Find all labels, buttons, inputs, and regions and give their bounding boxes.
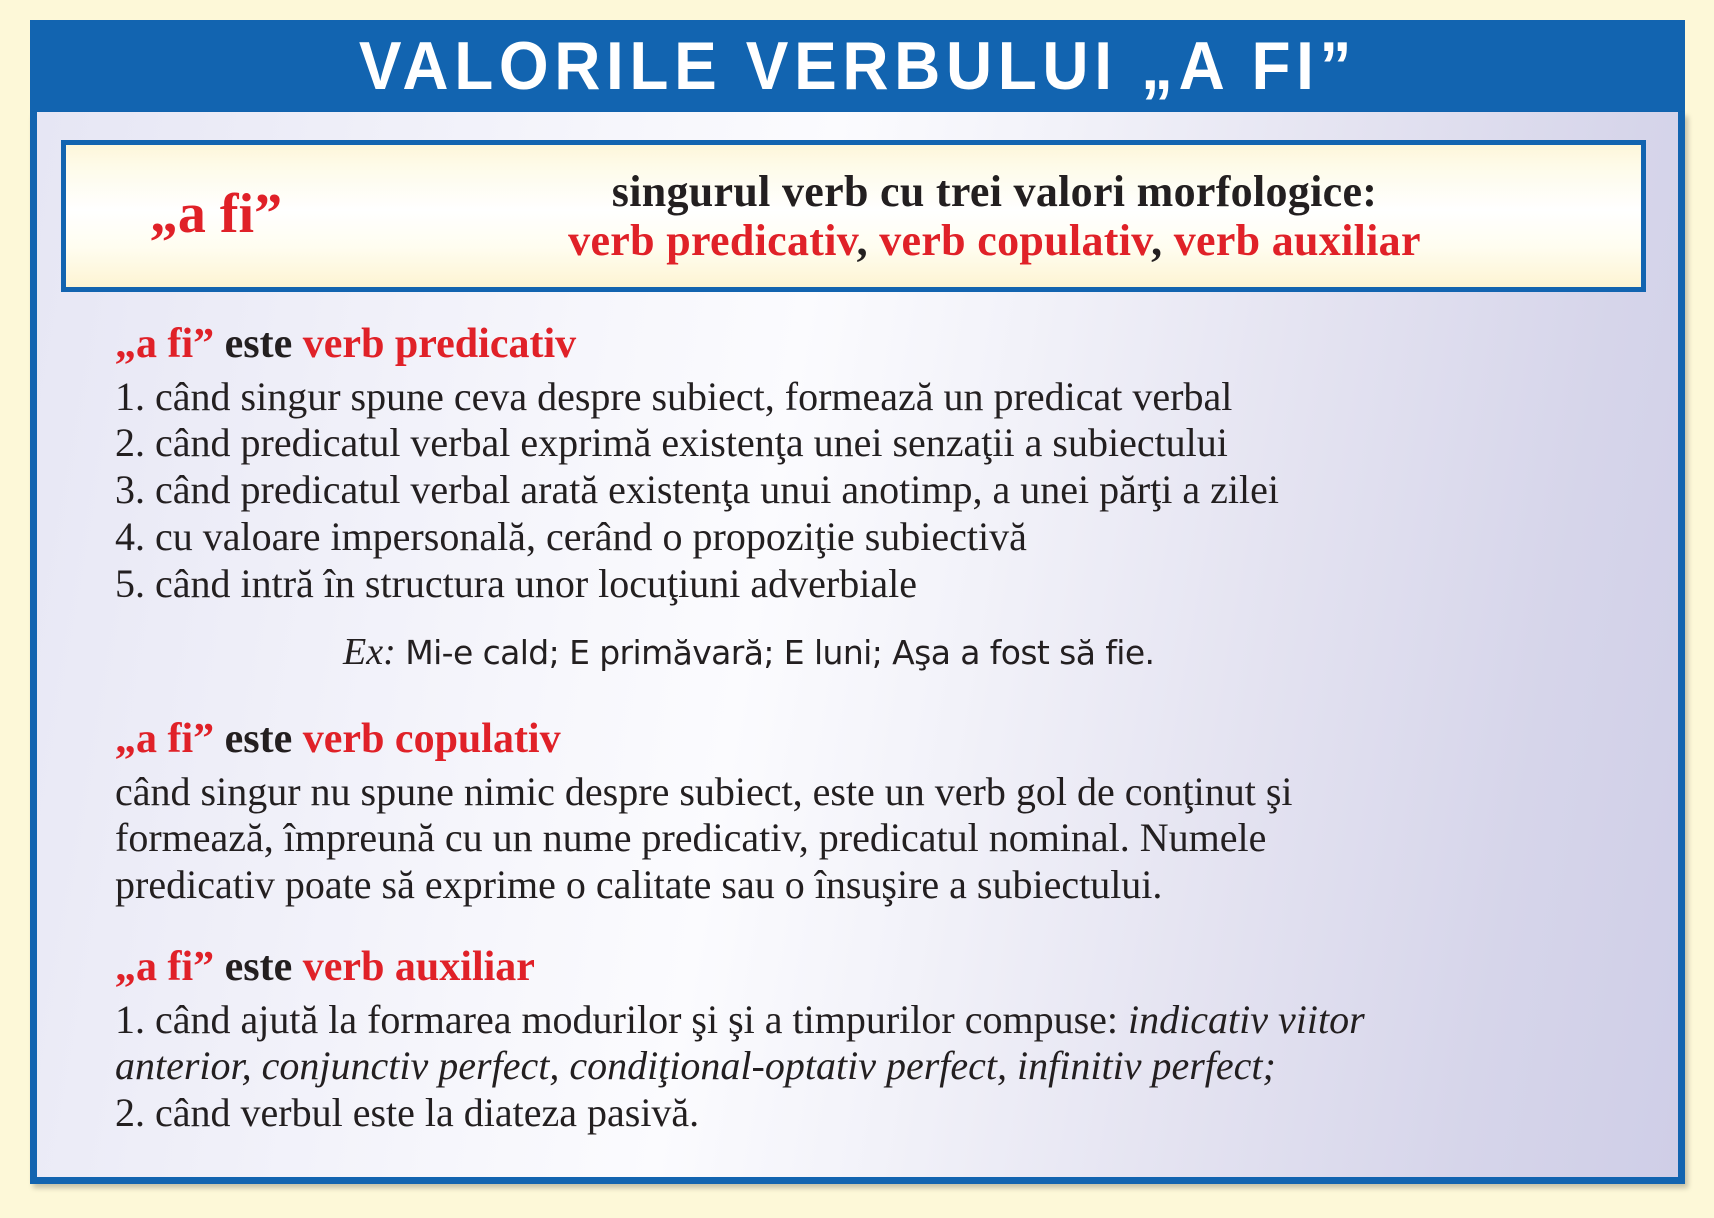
heading-term: „a fi” bbox=[115, 944, 214, 990]
section-verb-predicativ: „a fi” este verb predicativ 1. când sing… bbox=[115, 320, 1625, 675]
section-heading-predicativ: „a fi” este verb predicativ bbox=[115, 320, 1625, 370]
heading-kind: verb predicativ bbox=[303, 321, 576, 367]
definition-values: verb predicativ, verb copulativ, verb au… bbox=[366, 216, 1623, 265]
list-item: 5. când intră în structura unor locuţiun… bbox=[115, 561, 1625, 608]
paragraph-line: formează, împreună cu un nume predicativ… bbox=[115, 815, 1625, 862]
definition-separator-1: , bbox=[857, 216, 880, 265]
poster-root: VALORILE VERBULUI „A FI” „a fi” singurul… bbox=[0, 0, 1714, 1218]
heading-term: „a fi” bbox=[115, 321, 214, 367]
list-item-plain: 2. când verbul este la diateza pasivă. bbox=[115, 1090, 699, 1135]
list-item: 1. când singur spune ceva despre subiect… bbox=[115, 374, 1625, 421]
definition-value-1: verb predicativ bbox=[568, 216, 856, 265]
page-title: VALORILE VERBULUI „A FI” bbox=[358, 32, 1356, 100]
title-bar: VALORILE VERBULUI „A FI” bbox=[30, 20, 1685, 112]
list-item-italic: anterior, conjunctiv perfect, condiţiona… bbox=[115, 1043, 1276, 1088]
heading-kind: verb copulativ bbox=[303, 716, 561, 762]
heading-connector: este bbox=[214, 321, 303, 367]
example-text: Mi-e cald; E primăvară; E luni; Aşa a fo… bbox=[405, 633, 1154, 672]
definition-value-3: verb auxiliar bbox=[1174, 216, 1421, 265]
example-label: Ex: bbox=[343, 631, 396, 673]
definition-box: „a fi” singurul verb cu trei valori morf… bbox=[61, 140, 1646, 292]
section-verb-auxiliar: „a fi” este verb auxiliar 1. când ajută … bbox=[115, 943, 1625, 1137]
paragraph-line: când singur nu spune nimic despre subiec… bbox=[115, 769, 1625, 816]
list-item: 3. când predicatul verbal arată existenţ… bbox=[115, 467, 1625, 514]
definition-term: „a fi” bbox=[66, 186, 366, 246]
list-item: 4. cu valoare impersonală, cerând o prop… bbox=[115, 514, 1625, 561]
paragraph-line: predicativ poate să exprime o calitate s… bbox=[115, 862, 1625, 909]
section-spacer bbox=[115, 909, 1625, 943]
definition-value-2: verb copulativ bbox=[879, 216, 1151, 265]
heading-term: „a fi” bbox=[115, 716, 214, 762]
section-verb-copulativ: „a fi” este verb copulativ când singur n… bbox=[115, 715, 1625, 909]
list-item-italic: indicativ viitor bbox=[1128, 997, 1365, 1042]
list-item: 1. când ajută la formarea modurilor şi ş… bbox=[115, 997, 1625, 1044]
heading-connector: este bbox=[214, 944, 303, 990]
section-heading-auxiliar: „a fi” este verb auxiliar bbox=[115, 943, 1625, 993]
definition-separator-2: , bbox=[1151, 216, 1174, 265]
example-line: Ex: Mi-e cald; E primăvară; E luni; Aşa … bbox=[343, 630, 1625, 676]
list-item-plain: 1. când ajută la formarea modurilor şi ş… bbox=[115, 997, 1128, 1042]
section-heading-copulativ: „a fi” este verb copulativ bbox=[115, 715, 1625, 765]
section-spacer bbox=[115, 675, 1625, 715]
main-panel: „a fi” singurul verb cu trei valori morf… bbox=[30, 112, 1685, 1184]
content-area: „a fi” este verb predicativ 1. când sing… bbox=[115, 320, 1625, 1137]
list-item: 2. când predicatul verbal exprimă existe… bbox=[115, 420, 1625, 467]
definition-line1: singurul verb cu trei valori morfologice… bbox=[366, 167, 1623, 216]
definition-body: singurul verb cu trei valori morfologice… bbox=[366, 167, 1641, 266]
heading-kind: verb auxiliar bbox=[303, 944, 535, 990]
list-item: 2. când verbul este la diateza pasivă. bbox=[115, 1090, 1625, 1137]
heading-connector: este bbox=[214, 716, 303, 762]
list-item: anterior, conjunctiv perfect, condiţiona… bbox=[115, 1043, 1625, 1090]
